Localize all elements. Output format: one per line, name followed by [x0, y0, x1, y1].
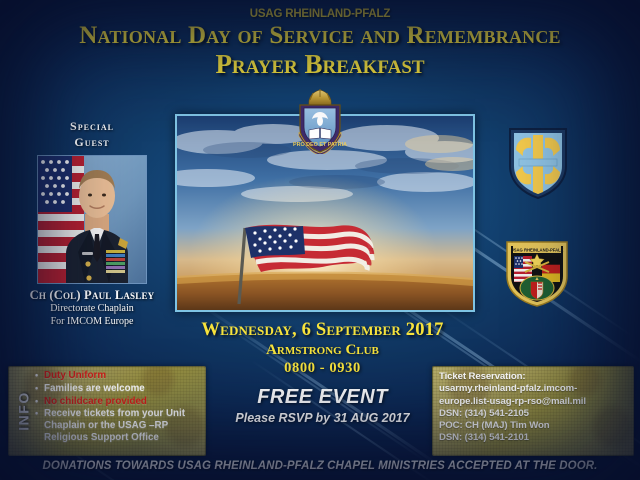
- ticket-heading: Ticket Reservation:: [439, 371, 629, 383]
- ticket-dsn-secondary: DSN: (314) 541-2101: [439, 432, 629, 444]
- info-box: INFO • Duty Uniform • Families are welco…: [8, 366, 206, 456]
- ticket-poc: POC: CH (MAJ) Tim Won: [439, 420, 629, 432]
- organization-name: USAG RHEINLAND-PFALZ: [0, 8, 640, 20]
- poster-title-line-2: Prayer Breakfast: [0, 50, 640, 80]
- chaplain-corps-crest-icon: PRO DEO ET PATRIA: [292, 88, 348, 154]
- info-list-item-text: No childcare provided: [44, 396, 201, 408]
- ticket-email-line-1[interactable]: usarmy.rheinland-pfalz.imcom-: [439, 383, 629, 395]
- info-list-item: • Receive tickets from your Unit Chaplai…: [35, 408, 201, 443]
- special-guest-photo: [37, 155, 147, 284]
- poster-title-line-1: National Day of Service and Remembrance: [0, 23, 640, 49]
- ticket-reservation-box: Ticket Reservation: usarmy.rheinland-pfa…: [432, 366, 634, 456]
- event-venue: Armstrong Club: [150, 342, 495, 359]
- bullet-icon: •: [35, 408, 44, 419]
- info-list-item-text: Families are welcome: [44, 383, 201, 395]
- info-list-item: • Families are welcome: [35, 383, 201, 395]
- special-guest-block: Special Guest: [8, 118, 176, 328]
- special-guest-label: Special Guest: [8, 118, 176, 150]
- bullet-icon: •: [35, 370, 44, 381]
- poster-footer: DONATIONS TOWARDS USAG RHEINLAND-PFALZ C…: [0, 460, 640, 472]
- special-guest-label-line-1: Special: [8, 118, 176, 134]
- ticket-email-line-2[interactable]: europe.list-usag-rp-rso@mail.mil: [439, 396, 629, 408]
- info-list-item-text: Duty Uniform: [44, 370, 201, 382]
- ticket-dsn-primary: DSN: (314) 541-2105: [439, 408, 629, 420]
- bullet-icon: •: [35, 383, 44, 394]
- info-box-tab-label: INFO: [16, 391, 32, 430]
- info-box-tab: INFO: [11, 367, 37, 455]
- svg-text:PRO DEO ET PATRIA: PRO DEO ET PATRIA: [293, 142, 347, 148]
- info-list-item-text: Receive tickets from your Unit Chaplain …: [44, 408, 201, 443]
- poster-header: USAG RHEINLAND-PFALZ National Day of Ser…: [0, 8, 640, 80]
- special-guest-name: Ch (Col) Paul Lasley: [8, 288, 176, 303]
- svg-text:USAG RHEINLAND-PFALZ: USAG RHEINLAND-PFALZ: [511, 248, 564, 253]
- ticket-reservation-list: Ticket Reservation: usarmy.rheinland-pfa…: [439, 371, 629, 445]
- poster-canvas: USAG RHEINLAND-PFALZ National Day of Ser…: [0, 0, 640, 480]
- event-date: Wednesday, 6 September 2017: [150, 320, 495, 341]
- info-list-item: • No childcare provided: [35, 396, 201, 408]
- info-box-list: • Duty Uniform • Families are welcome • …: [35, 370, 201, 445]
- special-guest-label-line-2: Guest: [8, 134, 176, 150]
- special-guest-title-line-1: Directorate Chaplain: [8, 303, 176, 316]
- usag-rheinland-pfalz-crest-icon: USAG RHEINLAND-PFALZ: [503, 238, 571, 308]
- tsc-shoulder-patch-icon: [507, 126, 569, 200]
- donations-notice: DONATIONS TOWARDS USAG RHEINLAND-PFALZ C…: [0, 460, 640, 472]
- bullet-icon: •: [35, 396, 44, 407]
- info-list-item: • Duty Uniform: [35, 370, 201, 382]
